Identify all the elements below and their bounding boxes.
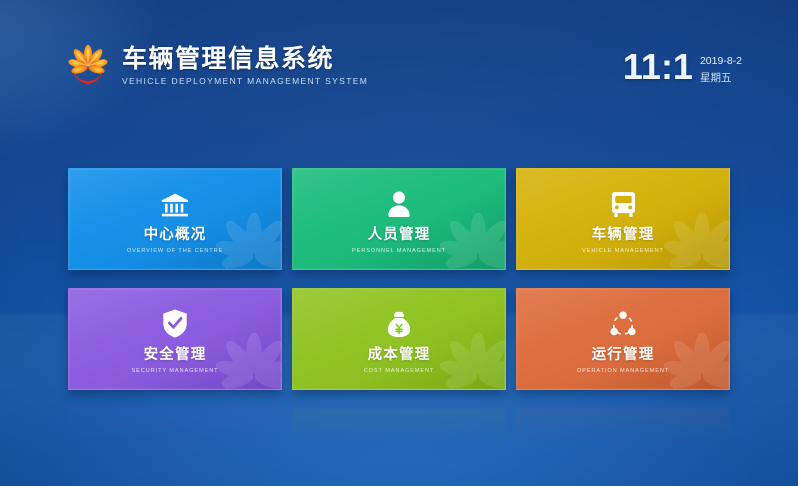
tile-content: 成本管理COST MANAGEMENT [293, 289, 505, 389]
shield-check-icon [162, 308, 188, 338]
clock: 11:1 2019-8-2 星期五 [623, 48, 742, 86]
clock-time: 11:1 [623, 48, 693, 86]
share-network-icon [609, 308, 637, 338]
tile-label-cn: 成本管理 [368, 347, 431, 364]
tile-cost-management[interactable]: 成本管理COST MANAGEMENT [292, 288, 506, 390]
brand: 车辆管理信息系统 VEHICLE DEPLOYMENT MANAGEMENT S… [66, 44, 368, 88]
tile-content: 中心概况OVERVIEW OF THE CENTRE [69, 169, 281, 269]
tile-vehicle-management[interactable]: 车辆管理VEHICLE MANAGEMENT [516, 168, 730, 270]
clock-date-block: 2019-8-2 星期五 [700, 48, 742, 86]
tile-content: 人员管理PERSONNEL MANAGEMENT [293, 169, 505, 269]
tile-label-en: COST MANAGEMENT [364, 367, 435, 375]
tile-label-cn: 人员管理 [368, 227, 431, 244]
app-title-en: VEHICLE DEPLOYMENT MANAGEMENT SYSTEM [122, 75, 368, 88]
tile-label-cn: 车辆管理 [592, 227, 655, 244]
tile-operation-management[interactable]: 运行管理OPERATION MANAGEMENT [516, 288, 730, 390]
tile-label-en: VEHICLE MANAGEMENT [582, 247, 664, 255]
tile-label-en: OPERATION MANAGEMENT [577, 367, 669, 375]
money-bag-yuan-icon [386, 308, 412, 338]
tile-label-en: PERSONNEL MANAGEMENT [352, 247, 446, 255]
bank-building-icon [161, 188, 189, 218]
bus-icon [611, 188, 636, 218]
tile-personnel-management[interactable]: 人员管理PERSONNEL MANAGEMENT [292, 168, 506, 270]
app-header: 车辆管理信息系统 VEHICLE DEPLOYMENT MANAGEMENT S… [0, 0, 798, 132]
tile-center-overview[interactable]: 中心概况OVERVIEW OF THE CENTRE [68, 168, 282, 270]
tile-label-cn: 中心概况 [144, 227, 207, 244]
tile-content: 运行管理OPERATION MANAGEMENT [517, 289, 729, 389]
user-icon [386, 188, 412, 218]
clock-date: 2019-8-2 [700, 54, 742, 68]
tile-label-en: OVERVIEW OF THE CENTRE [127, 247, 223, 255]
tile-label-cn: 运行管理 [592, 347, 655, 364]
cnpc-petal-logo [66, 44, 110, 88]
tile-security-management[interactable]: 安全管理SECURITY MANAGEMENT [68, 288, 282, 390]
brand-text: 车辆管理信息系统 VEHICLE DEPLOYMENT MANAGEMENT S… [122, 45, 368, 88]
tile-label-cn: 安全管理 [144, 347, 207, 364]
tile-content: 车辆管理VEHICLE MANAGEMENT [517, 169, 729, 269]
module-tile-grid: 中心概况OVERVIEW OF THE CENTRE人员管理PERSONNEL … [68, 168, 730, 390]
tile-content: 安全管理SECURITY MANAGEMENT [69, 289, 281, 389]
tile-label-en: SECURITY MANAGEMENT [132, 367, 219, 375]
clock-weekday: 星期五 [700, 71, 742, 86]
app-title-cn: 车辆管理信息系统 [122, 45, 368, 73]
